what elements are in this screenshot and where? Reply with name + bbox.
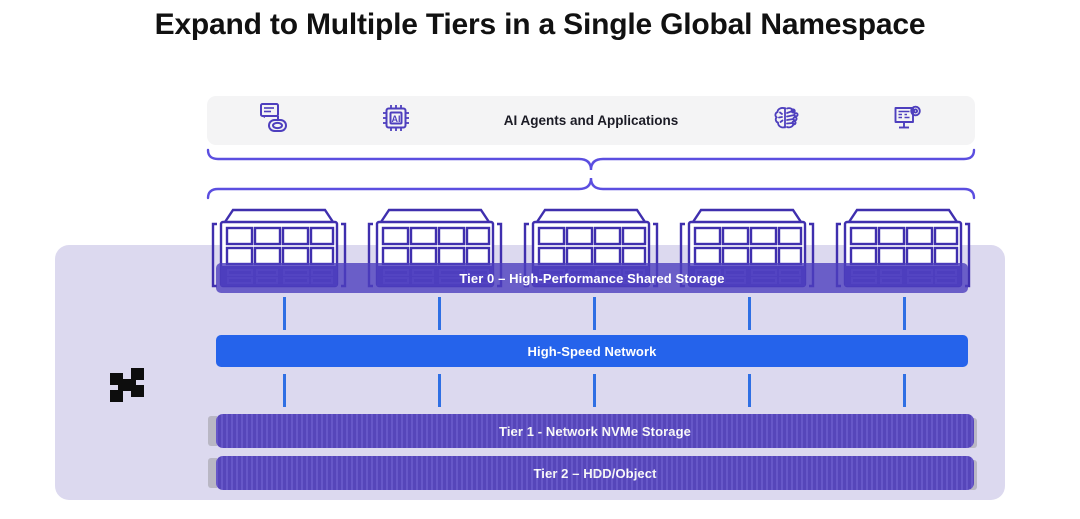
high-speed-network-bar: High-Speed Network [216,335,968,367]
connector-line [438,297,441,330]
tier-2-bar: Tier 2 – HDD/Object [216,456,974,490]
connector-line [903,297,906,330]
high-speed-network-label: High-Speed Network [528,344,657,359]
aggregation-brace-lower [206,176,976,200]
ai-brain-icon [771,103,801,138]
ai-applications-bar: AI AI Agents and Applications [207,96,975,145]
connector-line [903,374,906,407]
page-title: Expand to Multiple Tiers in a Single Glo… [0,8,1080,42]
tier-2-label: Tier 2 – HDD/Object [533,466,656,481]
connector-line [283,297,286,330]
connector-line [283,374,286,407]
tier-0-label: Tier 0 – High-Performance Shared Storage [459,271,724,286]
monitor-settings-icon [893,103,923,138]
ai-chip-icon: AI [381,103,411,138]
connector-line [748,374,751,407]
aggregation-brace-upper [206,148,976,172]
tier-0-bar: Tier 0 – High-Performance Shared Storage [216,263,968,293]
tier-1-bar: Tier 1 - Network NVMe Storage [216,414,974,448]
connector-line [593,297,596,330]
ai-applications-label: AI Agents and Applications [504,113,679,128]
connector-line [438,374,441,407]
connector-line [593,374,596,407]
connector-line [748,297,751,330]
chatbot-icon [259,102,289,139]
hammerspace-logo [100,358,154,412]
tier-1-label: Tier 1 - Network NVMe Storage [499,424,691,439]
svg-text:AI: AI [392,114,401,124]
